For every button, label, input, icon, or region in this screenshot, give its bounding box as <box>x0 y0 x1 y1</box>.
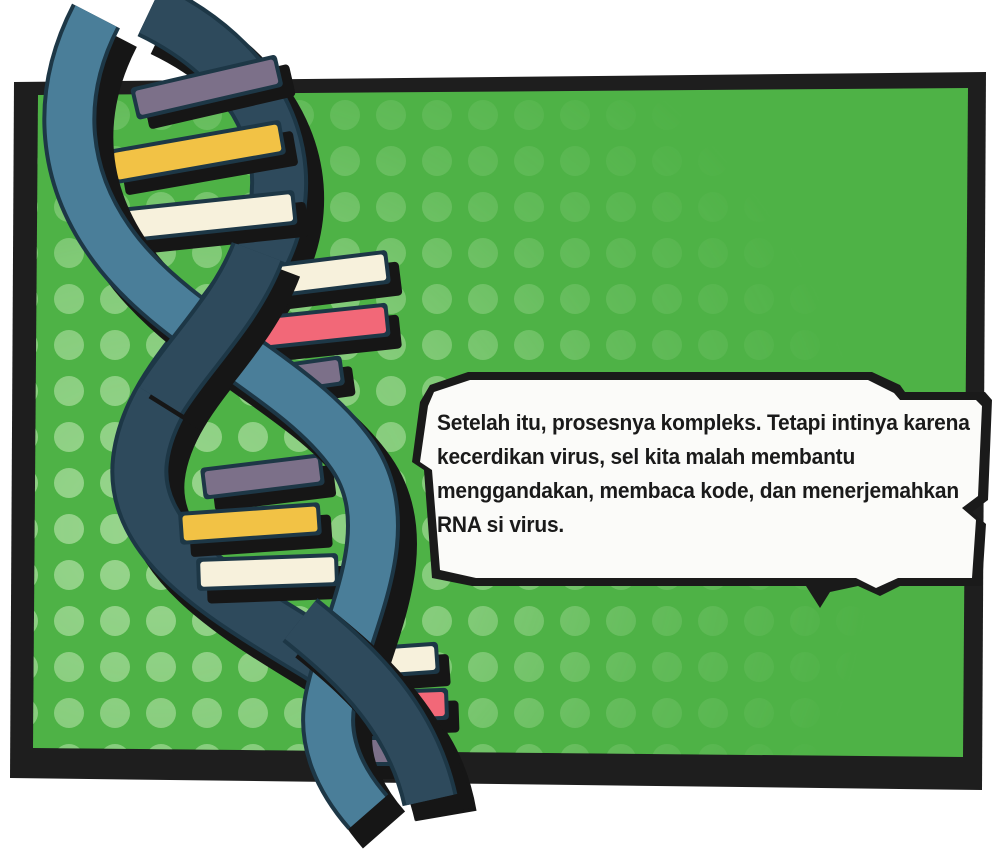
rung-cream <box>196 553 350 604</box>
comic-panel: Setelah itu, prosesnya kompleks. Tetapi … <box>0 0 1000 854</box>
comic-illustration <box>0 0 1000 854</box>
speech-bubble-fill <box>420 380 982 588</box>
speech-bubble <box>412 372 992 608</box>
